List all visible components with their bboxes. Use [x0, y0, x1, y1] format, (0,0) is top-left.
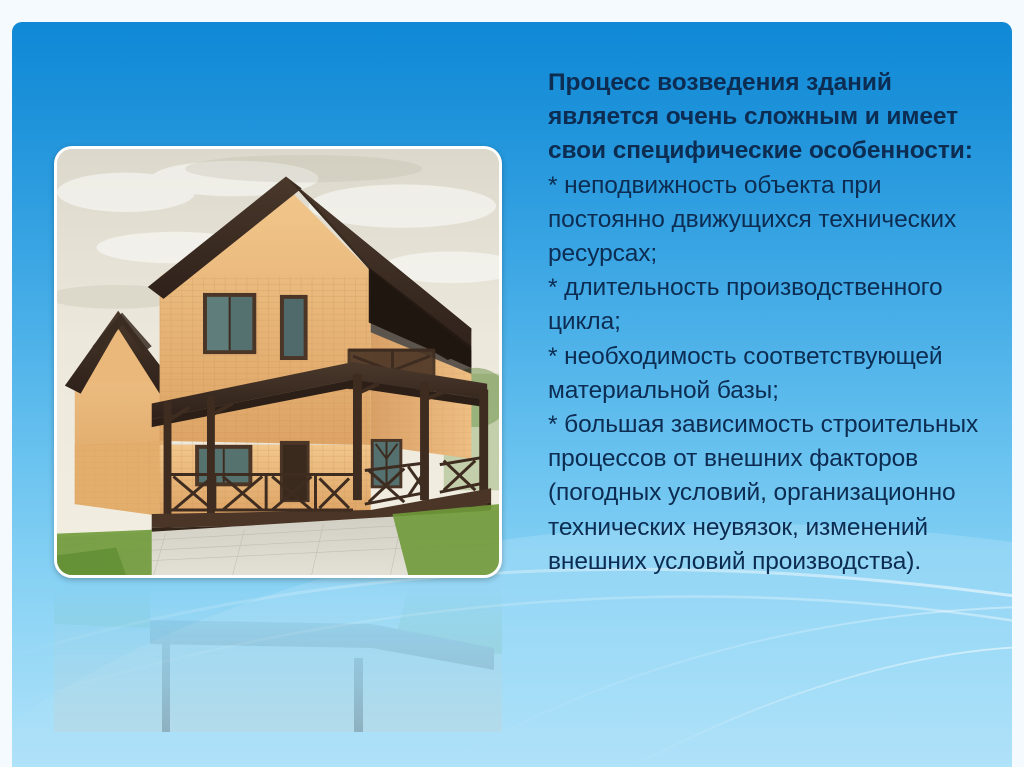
list-item: * длительность производственного цикла;	[548, 271, 1000, 339]
list-item: * большая зависимость строительных проце…	[548, 408, 1000, 579]
house-photo	[54, 146, 502, 578]
list-item: * неподвижность объекта при постоянно дв…	[548, 169, 1000, 272]
list-item: * необходимость соответствующей материал…	[548, 340, 1000, 408]
slide-background: Процесс возведения зданий является очень…	[12, 22, 1012, 767]
slide-text-column: Процесс возведения зданий является очень…	[548, 66, 1000, 579]
lead-paragraph: Процесс возведения зданий является очень…	[548, 66, 1000, 169]
slide-canvas: Процесс возведения зданий является очень…	[0, 0, 1024, 767]
house-photo-container	[54, 146, 502, 578]
feature-list: * неподвижность объекта при постоянно дв…	[548, 169, 1000, 579]
house-photo-reflection	[54, 582, 502, 732]
